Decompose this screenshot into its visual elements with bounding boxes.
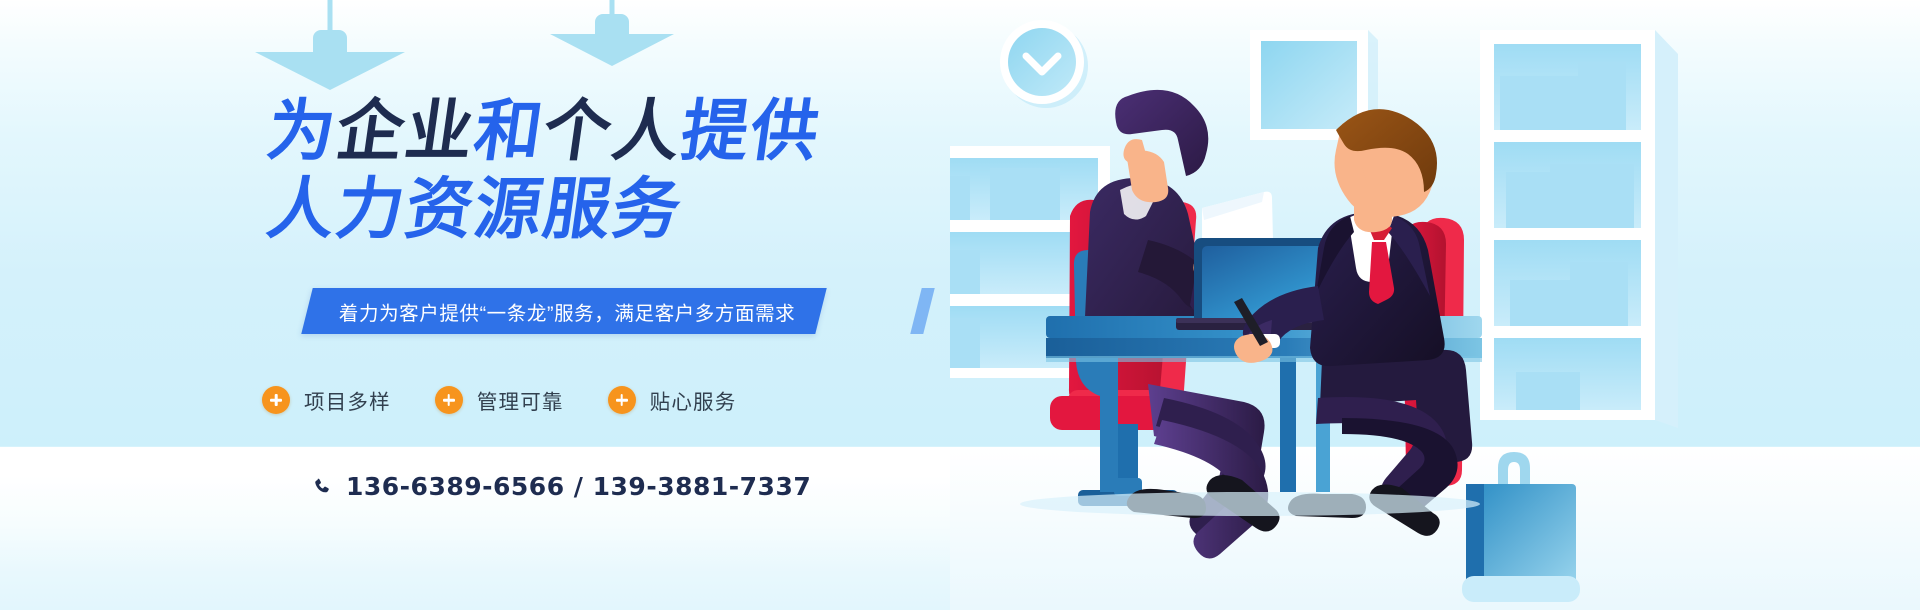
- office-interview-illustration: [950, 0, 1920, 610]
- banner-copy-block: 为企业和个人提供 人力资源服务 着力为客户提供“一条龙”服务，满足客户多方面需求…: [0, 0, 900, 610]
- headline-seg-2: 企业: [332, 94, 480, 168]
- plus-icon: [608, 386, 636, 414]
- subtitle-ribbon: 着力为客户提供“一条龙”服务，满足客户多方面需求: [301, 288, 827, 334]
- feature-label: 项目多样: [304, 385, 391, 415]
- contact-phone-row[interactable]: 136-6389-6566 / 139-3881-7337: [312, 472, 811, 501]
- headline-seg-1: 为: [263, 94, 342, 168]
- subtitle-ribbon-text: 着力为客户提供“一条龙”服务，满足客户多方面需求: [339, 297, 795, 326]
- headline-seg-3: 和: [470, 94, 549, 168]
- phone-number: 136-6389-6566 / 139-3881-7337: [346, 472, 811, 501]
- bookshelf-right: [1480, 30, 1678, 428]
- plus-icon: [262, 386, 290, 414]
- feature-item[interactable]: 项目多样: [262, 385, 391, 415]
- page-title: 为企业和个人提供 人力资源服务: [268, 94, 820, 246]
- feature-label: 管理可靠: [477, 385, 564, 415]
- feature-list: 项目多样 管理可靠 贴心服务: [262, 385, 736, 415]
- headline-seg-4: 个人: [539, 94, 687, 168]
- feature-item[interactable]: 贴心服务: [608, 385, 737, 415]
- headline-line-2: 人力资源服务: [263, 172, 825, 246]
- phone-icon: [312, 476, 332, 498]
- wall-clock: [1000, 20, 1088, 108]
- feature-item[interactable]: 管理可靠: [435, 385, 564, 415]
- headline-line-1: 为企业和个人提供: [263, 94, 825, 168]
- headline-seg-5: 提供: [677, 94, 825, 168]
- feature-label: 贴心服务: [650, 385, 737, 415]
- hr-services-banner: 为企业和个人提供 人力资源服务 着力为客户提供“一条龙”服务，满足客户多方面需求…: [0, 0, 1920, 610]
- subtitle-ribbon-tail: [910, 288, 934, 334]
- plus-icon: [435, 386, 463, 414]
- floor-shadow: [1020, 492, 1480, 516]
